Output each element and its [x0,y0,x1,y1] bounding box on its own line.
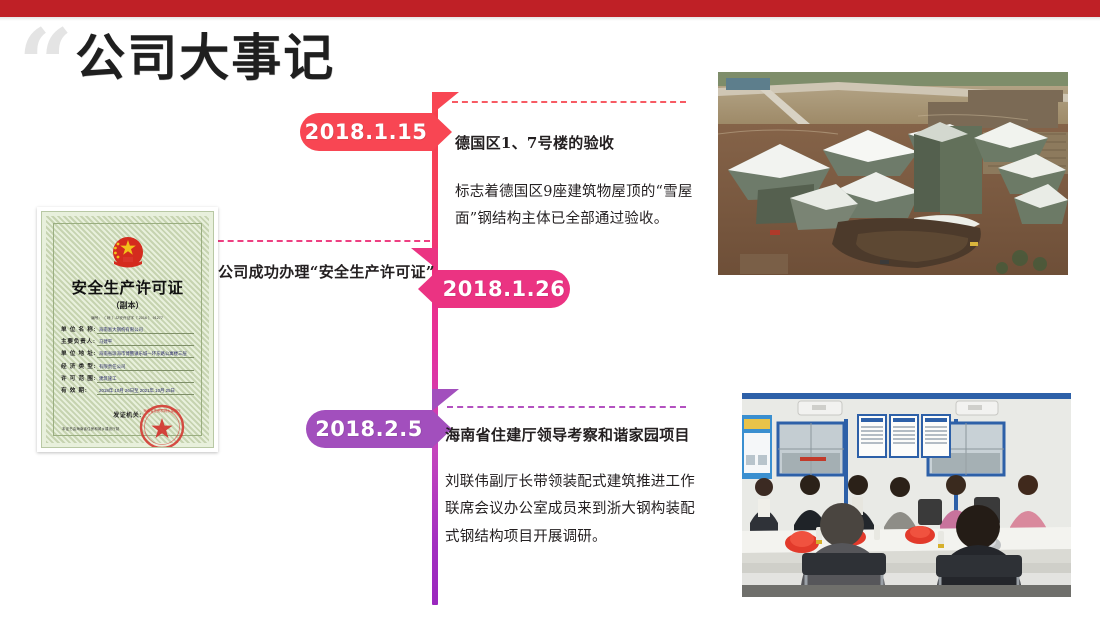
aerial-construction-illustration [718,72,1068,275]
certificate-field-value: 马建平 [97,339,194,346]
meeting-room-illustration [742,393,1071,597]
certificate-field-row: 有 效 期: 2018年 10月 26日至 2021年 10月 25日 [61,386,194,395]
aerial-construction-photo [718,72,1068,275]
certificate-field-label: 单 位 名 称: [61,325,97,333]
top-accent-bar [0,0,1100,17]
top-bar-shadow [0,17,1100,21]
certificate-issuer-label: 发证机关: [113,410,142,419]
dashed-connector-3 [447,406,686,408]
timeline-entry-1-body: 标志着德国区9座建筑物屋顶的“雪屋面”钢结构主体已全部通过验收。 [455,179,705,234]
certificate-field-label: 单 位 地 址: [61,349,97,357]
certificate-field-value: 2018年 10月 26日至 2021年 10月 25日 [97,388,194,395]
timeline-date-badge-1[interactable]: 2018.1.15 [300,113,432,151]
certificate-field-label: 主要负责人: [61,337,97,345]
timeline-entry-2-heading: 公司成功办理“安全生产许可证” [218,261,448,284]
certificate-field-label: 有 效 期: [61,386,97,394]
timeline-spine [432,92,438,605]
certificate-field-label: 经 济 类 型: [61,362,97,370]
timeline-date-label-2: 2018.1.26 [443,277,566,301]
timeline-notch-3 [432,389,459,411]
national-emblem-icon [108,235,148,271]
timeline-date-badge-2[interactable]: 2018.1.26 [438,270,570,308]
dashed-connector-2 [208,240,430,242]
certificate-field-value: 有限责任公司 [97,364,194,371]
certificate-subtitle: （副本） [112,300,144,311]
certificate-body: 安全生产许可证 （副本） 编号：（ 琼 ）JZ安许证字〔 2016 〕 9127… [56,226,199,433]
timeline-entry-3-heading: 海南省住建厅领导考察和谐家园项目 [445,424,695,447]
safety-production-license-certificate: 安全生产许可证 （副本） 编号：（ 琼 ）JZ安许证字〔 2016 〕 9127… [37,207,218,452]
timeline-date-badge-3[interactable]: 2018.2.5 [306,410,432,448]
certificate-field-value: 海南浙大钢构有限公司 [97,327,194,334]
svg-text:海南省住房和城乡建设厅: 海南省住房和城乡建设厅 [143,408,181,413]
certificate-inner: 安全生产许可证 （副本） 编号：（ 琼 ）JZ安许证字〔 2016 〕 9127… [41,211,214,448]
dashed-connector-1 [452,101,686,103]
timeline-entry-3-text: 海南省住建厅领导考察和谐家园项目 刘联伟副厅长带领装配式建筑推进工作联席会议办公… [445,424,695,551]
certificate-field-row: 单 位 地 址: 海南省琼海市博鳌镇乐城一环东路公寓楼三层 [61,349,194,358]
timeline-notch-1 [432,92,459,114]
slide-canvas: “ 公司大事记 2018.1.15 2018.1.26 2018.2.5 德国区… [0,0,1100,619]
slide-header: “ 公司大事记 [18,26,335,103]
quote-mark-icon: “ [18,28,69,103]
timeline-date-label-1: 2018.1.15 [305,120,428,144]
certificate-title: 安全生产许可证 [71,276,183,298]
timeline-entry-1-text: 德国区1、7号楼的验收 标志着德国区9座建筑物屋顶的“雪屋面”钢结构主体已全部通… [455,132,705,234]
certificate-field-value: 海南省琼海市博鳌镇乐城一环东路公寓楼三层 [97,351,194,358]
certificate-field-row: 单 位 名 称: 海南浙大钢构有限公司 [61,325,194,334]
page-title: 公司大事记 [75,32,335,85]
certificate-field-label: 许 可 范 围: [61,374,97,382]
timeline-date-label-3: 2018.2.5 [315,417,423,441]
certificate-field-row: 经 济 类 型: 有限责任公司 [61,362,194,371]
timeline-entry-3-body: 刘联伟副厅长带领装配式建筑推进工作联席会议办公室成员来到浙大钢构装配式钢结构项目… [445,469,695,552]
certificate-field-row: 主要负责人: 马建平 [61,337,194,346]
certificate-bottom-note: 本证书由海南省住房和城乡建设厅制 [62,426,119,431]
certificate-field-value: 建筑施工 [97,376,194,383]
certificate-serial-number: 编号：（ 琼 ）JZ安许证字〔 2016 〕 91277 [92,315,164,321]
certificate-field-list: 单 位 名 称: 海南浙大钢构有限公司 主要负责人: 马建平 单 位 地 址: … [56,325,199,398]
meeting-room-photo [742,393,1071,597]
certificate-footer: 发证机关: 海南省住房和城乡建设厅 [56,410,199,419]
timeline-entry-2-text: 公司成功办理“安全生产许可证” [218,261,448,284]
timeline-entry-1-heading: 德国区1、7号楼的验收 [455,132,705,155]
official-red-seal-icon: 海南省住房和城乡建设厅 [139,404,185,448]
certificate-field-row: 许 可 范 围: 建筑施工 [61,374,194,383]
